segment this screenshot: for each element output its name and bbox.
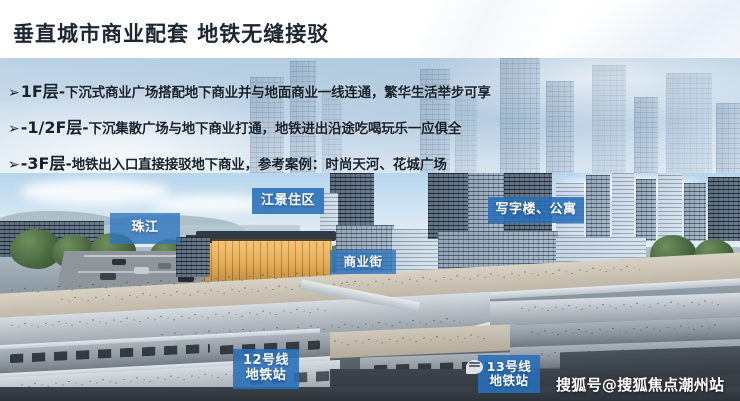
bullet-arrow-icon: ➢	[8, 85, 20, 101]
callout-label-text: 商业街	[343, 255, 382, 269]
bullet-item-1f: ➢1F层-下沉式商业广场搭配地下商业并与地面商业一线连通，繁华生活举步可享	[8, 78, 491, 102]
callout-label-line1: 13号线	[487, 360, 531, 374]
sohu-logo-icon	[466, 360, 483, 374]
bullet-body-text: 下沉式商业广场搭配地下商业并与地面商业一线连通，繁华生活举步可享	[65, 85, 491, 101]
bullet-item-minus-half-f: ➢-1/2F层-下沉集散广场与地下商业打通，地铁进出沿途吃喝玩乐一应俱全	[8, 114, 461, 138]
band-tower	[716, 103, 740, 173]
car	[100, 273, 116, 280]
apartment-tower	[636, 179, 656, 241]
callout-label-text: 珠江	[131, 221, 158, 236]
band-tower	[592, 65, 626, 173]
bullet-lead-label: 1F层	[21, 82, 59, 101]
page-title: 垂直城市商业配套 地铁无缝接驳	[13, 18, 329, 48]
apartment-tower	[612, 173, 634, 241]
callout-zhujiang[interactable]: 珠江	[110, 213, 180, 244]
bullet-lead-label: -1/2F层	[21, 118, 83, 137]
apartment-tower	[658, 173, 682, 241]
callout-metro-line-13[interactable]: 13号线 地铁站	[478, 355, 540, 393]
bullet-reference-cases: 参考案例：时尚天河、花城广场	[258, 157, 447, 173]
car	[134, 267, 149, 274]
band-tower	[634, 97, 658, 173]
slide-root: 垂直城市商业配套 地铁无缝接驳 ➢1F层-下沉式商业广场搭配地下商业并与地面商业…	[0, 0, 740, 401]
callout-label-text: 江景住区	[261, 194, 315, 209]
band-tower	[666, 73, 712, 173]
callout-jiangjing-residential[interactable]: 江景住区	[252, 188, 324, 214]
title-band: 垂直城市商业配套 地铁无缝接驳	[0, 0, 740, 58]
callout-label-line2: 地铁站	[489, 374, 528, 388]
watermark-text: 搜狐号@搜狐焦点潮州站	[556, 374, 724, 395]
bullet-lead-label: -3F层	[21, 154, 66, 173]
apartment-tower	[684, 183, 706, 241]
cloud	[20, 179, 170, 205]
callout-metro-line-12[interactable]: 12号线 地铁站	[233, 349, 299, 389]
car	[112, 259, 126, 265]
bullet-arrow-icon: ➢	[8, 157, 20, 173]
callout-label-line2: 地铁站	[246, 369, 287, 384]
band-tower	[546, 81, 574, 173]
callout-label-line1: 12号线	[243, 354, 289, 369]
mall-side-wing	[176, 237, 210, 277]
bullet-body-text: 下沉集散广场与地下商业打通，地铁进出沿途吃喝玩乐一应俱全	[89, 121, 461, 137]
bullet-arrow-icon: ➢	[8, 121, 20, 137]
car	[158, 263, 171, 269]
bullet-item-minus-3f: ➢-3F层-地铁出入口直接接驳地下商业，参考案例：时尚天河、花城广场	[8, 150, 447, 174]
office-tower	[428, 173, 468, 239]
apartment-tower	[708, 177, 740, 241]
band-tower	[500, 58, 540, 173]
callout-office-apartment[interactable]: 写字楼、公寓	[488, 197, 584, 223]
apartment-tower	[586, 175, 610, 241]
architectural-rendering	[0, 173, 740, 401]
callout-label-text: 写字楼、公寓	[495, 203, 576, 218]
callout-commercial-street[interactable]: 商业街	[330, 250, 396, 274]
bullet-body-text: 地铁出入口直接接驳地下商业，	[72, 157, 258, 173]
